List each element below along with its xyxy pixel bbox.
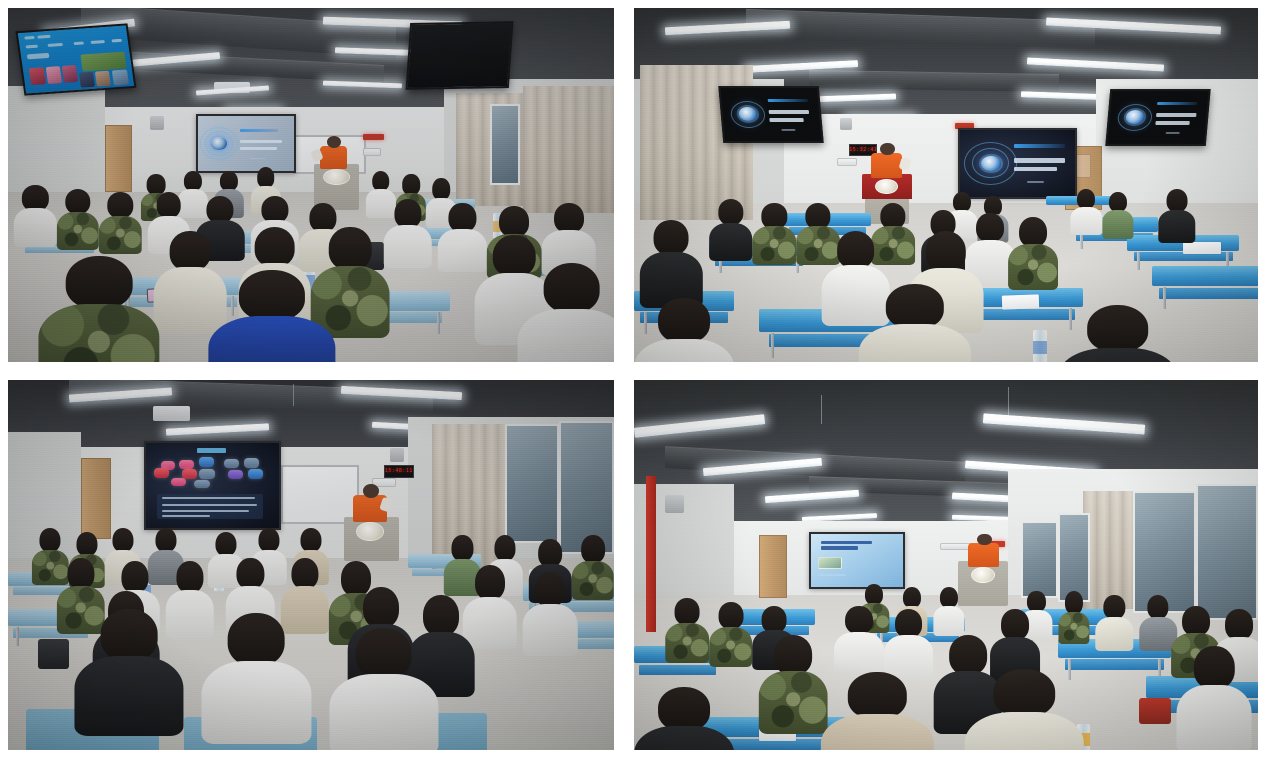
head <box>865 584 883 605</box>
audience-member <box>1071 189 1102 235</box>
tv-section-title <box>27 53 49 59</box>
desk-leg <box>771 333 774 359</box>
audience-member <box>523 572 578 653</box>
tv-nav-item[interactable] <box>74 42 84 46</box>
slide-ring-decoration <box>200 127 238 160</box>
audience-member <box>834 606 884 673</box>
head <box>107 192 132 218</box>
collage-panel-top-left[interactable] <box>0 0 624 372</box>
torso <box>517 309 614 362</box>
foreground-audience-member <box>965 669 1084 750</box>
tv-thumbnail[interactable] <box>29 67 45 85</box>
torso <box>834 632 884 675</box>
torso <box>753 226 797 265</box>
tv-thumbnail[interactable] <box>79 73 95 89</box>
head <box>845 606 873 635</box>
head <box>76 532 97 556</box>
foreground-audience-member <box>821 672 933 750</box>
light-hanger <box>821 395 822 425</box>
diagram-node <box>244 458 259 467</box>
audience-member <box>1008 217 1058 288</box>
head <box>239 270 305 321</box>
speaker-torso <box>320 146 347 169</box>
audience-member <box>99 192 141 252</box>
slide-footer-line <box>250 158 265 160</box>
head <box>848 672 906 719</box>
head <box>543 263 600 314</box>
head <box>228 613 285 666</box>
window <box>505 424 560 542</box>
diagram-node <box>199 457 214 466</box>
foreground-audience-member <box>202 613 311 739</box>
head <box>1109 192 1127 212</box>
head <box>40 528 61 552</box>
collage-panel-bottom-right[interactable] <box>624 372 1267 760</box>
head <box>122 561 149 593</box>
head <box>538 539 562 567</box>
body-text-line <box>162 515 210 517</box>
audience-member <box>753 203 797 263</box>
torso <box>1102 210 1133 239</box>
head <box>1065 591 1083 614</box>
head <box>554 203 584 233</box>
classroom-door[interactable] <box>81 458 111 539</box>
head <box>169 231 210 271</box>
tv-thumbnail[interactable] <box>62 65 78 83</box>
desk-leg <box>1137 252 1140 270</box>
notebook <box>1002 294 1040 309</box>
slide-ring-decoration <box>1117 104 1154 131</box>
head <box>257 167 275 187</box>
slide-ring-decoration <box>964 142 1017 185</box>
window <box>1196 484 1258 621</box>
speaker-torso <box>968 543 999 567</box>
photo-collage: 15:32:41 <box>0 0 1267 760</box>
head <box>67 558 94 590</box>
torso <box>665 623 709 663</box>
torso <box>38 304 159 362</box>
head <box>101 609 158 660</box>
audience-member <box>934 587 965 635</box>
exit-sign <box>363 134 384 140</box>
head <box>993 669 1055 717</box>
classroom-photo-3: 15:48:11 <box>8 380 614 750</box>
head <box>452 535 473 561</box>
torso <box>859 324 971 362</box>
head <box>1225 609 1253 639</box>
lectern-emblem-icon <box>356 522 383 541</box>
wall-sensor <box>363 148 381 156</box>
head <box>1104 595 1125 619</box>
head <box>355 628 412 679</box>
window-curtain <box>523 86 614 213</box>
head <box>1182 606 1210 636</box>
led-clock-text: 15:32:41 <box>849 147 877 153</box>
window <box>559 421 614 554</box>
head <box>372 171 390 191</box>
head <box>475 565 505 600</box>
tv-ui-chip <box>25 37 35 41</box>
slide-accent-bar <box>240 129 278 132</box>
water-bottle <box>1033 330 1047 362</box>
audience-member <box>640 220 702 305</box>
head <box>184 171 202 191</box>
foreground-audience-member <box>208 270 335 362</box>
wall-display-off[interactable] <box>405 21 513 90</box>
slide-title-line <box>1014 167 1056 171</box>
head <box>155 528 176 552</box>
desk-leg <box>437 312 440 334</box>
audience-member <box>14 185 56 245</box>
torso <box>965 712 1084 750</box>
slide-title-line <box>769 110 810 114</box>
wall-speaker <box>150 116 163 130</box>
head <box>216 532 237 556</box>
slide-accent-bar <box>1157 102 1198 106</box>
tv-thumbnail[interactable] <box>95 71 111 87</box>
slide-title-line <box>1156 121 1190 125</box>
led-clock-text: 15:48:11 <box>385 468 413 474</box>
torso <box>634 339 734 362</box>
head <box>499 206 529 236</box>
head <box>1001 609 1029 639</box>
student-desk <box>1152 266 1258 308</box>
projection-screen <box>809 532 906 589</box>
diagram-node <box>194 480 210 488</box>
slide-thumbnail <box>818 557 842 569</box>
led-clock: 15:48:11 <box>384 465 414 478</box>
audience-member <box>384 199 432 266</box>
slide-accent-bar <box>1014 144 1064 148</box>
wall-speaker <box>390 448 405 461</box>
wall-speaker <box>840 118 852 130</box>
standpipe <box>646 476 656 631</box>
foreground-audience-member <box>38 256 159 362</box>
diagram-node <box>228 470 243 479</box>
tv-nav-item[interactable] <box>112 39 122 43</box>
head <box>176 561 203 593</box>
foreground-audience-member <box>634 298 734 362</box>
classroom-door[interactable] <box>759 535 787 598</box>
head <box>805 203 830 229</box>
head <box>880 203 905 229</box>
speaker-head <box>880 143 895 156</box>
tv-thumbnail[interactable] <box>112 70 129 86</box>
head <box>113 528 134 552</box>
head <box>300 528 321 552</box>
audience-member <box>759 635 828 731</box>
head <box>774 635 812 674</box>
torso <box>523 604 578 656</box>
window-curtain <box>1083 491 1133 609</box>
torso <box>1177 685 1252 750</box>
bottle-label <box>1033 341 1047 354</box>
head <box>658 298 710 343</box>
foreground-audience-member <box>859 284 971 362</box>
slide-footer-line <box>1027 181 1044 183</box>
head <box>261 196 288 223</box>
head <box>329 227 372 269</box>
window <box>490 104 520 185</box>
torso <box>572 561 614 600</box>
diagram-node <box>224 459 239 468</box>
slide-title-line <box>821 546 858 549</box>
torso <box>1071 207 1102 236</box>
head <box>207 196 234 223</box>
head <box>926 231 966 272</box>
head <box>402 174 420 194</box>
head <box>1166 189 1187 212</box>
slide-title-line <box>1014 158 1064 163</box>
audience-member <box>1102 192 1133 238</box>
door-window <box>1075 154 1091 177</box>
slide-ring-decoration <box>730 101 767 128</box>
head <box>535 572 565 607</box>
audience-member <box>665 598 709 661</box>
slide-title-line <box>1156 114 1197 118</box>
torso <box>329 674 438 750</box>
slide-accent-bar <box>768 98 809 102</box>
backpack <box>1139 698 1170 724</box>
torso <box>759 671 828 734</box>
torso <box>1158 210 1195 243</box>
head <box>156 192 181 218</box>
head <box>494 535 515 561</box>
classroom-photo-2: 15:32:41 <box>634 8 1258 362</box>
classroom-door[interactable] <box>105 125 132 192</box>
slide-title-line <box>770 118 804 122</box>
classroom-photo-1 <box>8 8 614 362</box>
torso <box>709 627 753 667</box>
audience-member <box>709 602 753 665</box>
diagram-node <box>154 468 169 477</box>
torso <box>208 316 335 362</box>
head <box>762 203 787 229</box>
head <box>762 606 787 633</box>
whiteboard <box>281 465 360 524</box>
head <box>291 558 318 590</box>
lectern-emblem-icon <box>971 567 995 583</box>
hanging-display-left[interactable] <box>719 86 824 142</box>
audience-member <box>884 609 934 676</box>
speaker-head <box>977 534 991 546</box>
diagram-node <box>248 469 263 478</box>
foreground-audience-member <box>634 687 734 750</box>
head <box>449 203 476 232</box>
audience-member <box>1158 189 1195 242</box>
head <box>940 587 958 608</box>
head <box>66 256 133 310</box>
head <box>1194 646 1234 688</box>
audience-member <box>709 199 753 259</box>
classroom-photo-4 <box>634 380 1258 750</box>
torso <box>634 726 734 750</box>
diagram-node <box>199 469 215 478</box>
projection-screen <box>958 128 1077 199</box>
head <box>903 587 921 608</box>
head <box>220 171 238 191</box>
hanging-display-right[interactable] <box>1106 90 1211 146</box>
body-text-line <box>162 497 255 499</box>
audience-member <box>56 189 98 249</box>
head <box>1087 305 1149 352</box>
head <box>895 609 923 638</box>
torso <box>56 212 98 251</box>
head <box>258 528 279 552</box>
slide-footer-line <box>1166 132 1180 134</box>
diagram-node <box>179 460 194 469</box>
head <box>675 598 700 625</box>
diagram-title <box>197 448 226 453</box>
slide-title-line <box>240 140 282 144</box>
head <box>718 199 743 225</box>
slide-caption-line <box>818 574 846 576</box>
torso <box>384 225 432 268</box>
wall-speaker <box>665 495 684 514</box>
audience-member <box>1058 591 1089 643</box>
tv-nav-item[interactable] <box>26 45 38 49</box>
projection-screen <box>196 114 296 172</box>
slide-title-line <box>240 147 276 150</box>
head <box>254 227 295 267</box>
head <box>363 587 399 628</box>
torso <box>1058 348 1177 362</box>
foreground-audience-member <box>75 609 184 731</box>
body-text-line <box>162 504 257 506</box>
head <box>432 178 450 200</box>
head <box>22 185 48 211</box>
wall-display-streaming[interactable] <box>16 24 137 97</box>
torso <box>709 223 753 262</box>
tv-nav-item[interactable] <box>48 43 64 47</box>
slide-footer-line <box>782 129 796 131</box>
torso <box>821 714 933 750</box>
foreground-audience-member <box>517 263 614 362</box>
head <box>718 602 743 629</box>
speaker-head <box>363 484 379 498</box>
tv-thumbnail[interactable] <box>45 66 61 84</box>
diagram-body-text <box>157 494 263 519</box>
head <box>654 220 689 255</box>
collage-panel-top-right[interactable]: 15:32:41 <box>624 0 1267 372</box>
window <box>1058 513 1089 602</box>
audience-member <box>572 535 614 598</box>
lectern-emblem-icon <box>875 179 897 194</box>
slide-title-line <box>821 541 872 544</box>
printed-handout <box>1183 242 1220 254</box>
projection-screen <box>144 441 280 530</box>
audience-member <box>1096 595 1133 651</box>
projector <box>153 406 189 421</box>
desk-top <box>1152 266 1258 286</box>
backpack <box>38 639 68 669</box>
light-hanger <box>1008 387 1009 417</box>
diagram-node <box>171 478 186 486</box>
window <box>1021 521 1058 599</box>
light-hanger <box>293 384 294 406</box>
head <box>1147 595 1168 619</box>
head <box>886 284 944 329</box>
torso <box>1096 617 1133 651</box>
torso <box>75 656 184 737</box>
foreground-audience-member <box>329 628 438 750</box>
head <box>394 199 421 228</box>
torso <box>934 606 965 636</box>
head <box>1019 217 1047 247</box>
tv-nav-item[interactable] <box>91 40 105 44</box>
desk-shelf <box>639 665 716 675</box>
torso <box>1058 612 1089 644</box>
desk-shelf <box>1159 288 1258 299</box>
foreground-audience-member <box>1058 305 1177 362</box>
desk-leg <box>16 627 19 646</box>
head <box>581 535 605 563</box>
head <box>237 558 264 590</box>
head <box>65 189 90 215</box>
torso <box>202 661 311 744</box>
torso <box>1008 244 1058 289</box>
head <box>1077 189 1095 209</box>
audience-member <box>1177 646 1252 750</box>
tv-hero-thumbnail[interactable] <box>81 52 127 72</box>
tv-ui-chip <box>38 36 51 40</box>
head <box>658 687 710 731</box>
speaker-torso <box>871 153 902 178</box>
torso <box>14 208 56 247</box>
diagram-node <box>182 469 197 478</box>
wall-panel <box>837 158 857 166</box>
head <box>837 231 875 269</box>
torso <box>99 216 141 255</box>
body-text-line <box>162 510 249 512</box>
collage-panel-bottom-left[interactable]: 15:48:11 <box>0 372 624 760</box>
